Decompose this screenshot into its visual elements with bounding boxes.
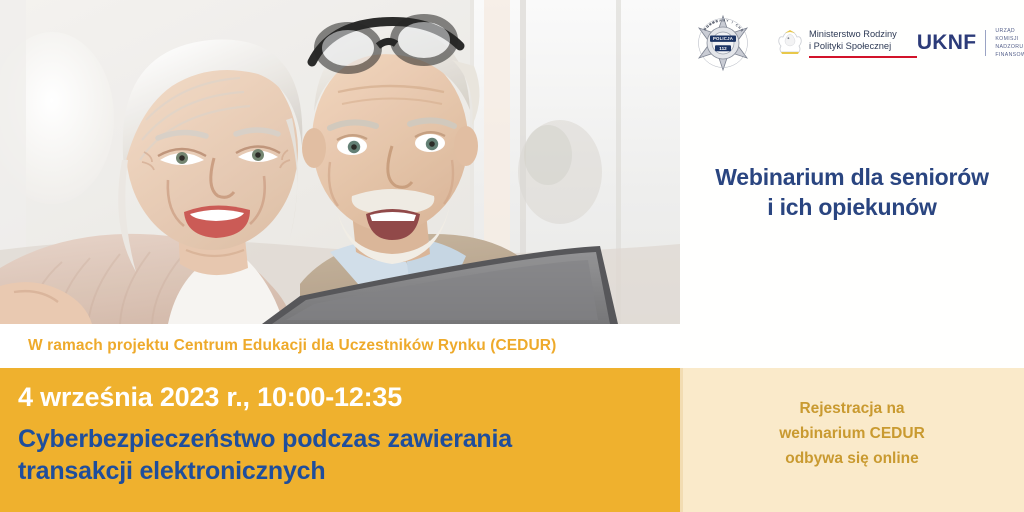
cedur-project-band: W ramach projektu Centrum Edukacji dla U… — [0, 324, 680, 368]
webinar-headline-line-1: Webinarium dla seniorów — [680, 163, 1024, 193]
hero-photo — [0, 0, 680, 324]
ministry-wordmark: Ministerstwo Rodziny i Polityki Społeczn… — [809, 28, 897, 59]
event-details-block: 4 września 2023 r., 10:00-12:35 Cyberbez… — [0, 368, 680, 512]
webinar-headline-line-2: i ich opiekunów — [680, 193, 1024, 223]
webinar-poster: W ramach projektu Centrum Edukacji dla U… — [0, 0, 1024, 512]
registration-line-2: webinarium CEDUR — [680, 421, 1024, 446]
right-column: POLICJA 112 P O M A G A M — [680, 0, 1024, 512]
webinar-headline: Webinarium dla seniorów i ich opiekunów — [680, 163, 1024, 223]
ministry-red-rule — [809, 56, 917, 58]
event-topic-line-2: transakcji elektronicznych — [18, 456, 658, 488]
ministerstwo-rodziny-logo: Ministerstwo Rodziny i Polityki Społeczn… — [776, 28, 897, 59]
event-topic: Cyberbezpieczeństwo podczas zawierania t… — [18, 424, 658, 487]
uknf-sub-line-3: NADZORU — [995, 43, 1024, 51]
registration-text: Rejestracja na webinarium CEDUR odbywa s… — [680, 396, 1024, 471]
ministry-line-1: Ministerstwo Rodziny — [809, 28, 897, 40]
uknf-subtitle: URZĄD KOMISJI NADZORU FINANSOWEGO — [995, 27, 1024, 59]
event-topic-line-1: Cyberbezpieczeństwo podczas zawierania — [18, 424, 658, 456]
event-datetime: 4 września 2023 r., 10:00-12:35 — [18, 382, 402, 413]
polish-eagle-svg — [776, 28, 804, 58]
logo-row: POLICJA 112 P O M A G A M — [680, 0, 1024, 86]
hero-photo-illustration — [0, 0, 680, 324]
registration-block: Rejestracja na webinarium CEDUR odbywa s… — [680, 368, 1024, 512]
policja-word: POLICJA — [713, 36, 733, 41]
registration-line-3: odbywa się online — [680, 446, 1024, 471]
ministry-line-2: i Polityki Społecznej — [809, 40, 897, 52]
emergency-number-112: 112 — [719, 46, 727, 51]
left-column: W ramach projektu Centrum Edukacji dla U… — [0, 0, 680, 512]
uknf-sub-line-1: URZĄD — [995, 27, 1024, 35]
uknf-sub-line-2: KOMISJI — [995, 35, 1024, 43]
uknf-divider — [985, 30, 986, 56]
uknf-wordmark: UKNF — [917, 31, 977, 55]
uknf-logo: UKNF URZĄD KOMISJI NADZORU FINANSOWEGO — [917, 27, 1024, 59]
cedur-project-text: W ramach projektu Centrum Edukacji dla U… — [28, 337, 556, 355]
svg-text:I: I — [731, 20, 734, 24]
registration-line-1: Rejestracja na — [680, 396, 1024, 421]
uknf-sub-line-4: FINANSOWEGO — [995, 51, 1024, 59]
polish-eagle-icon — [776, 28, 804, 58]
policja-badge-icon: POLICJA 112 P O M A G A M — [692, 14, 754, 72]
policja-badge-svg: POLICJA 112 P O M A G A M — [692, 14, 754, 72]
